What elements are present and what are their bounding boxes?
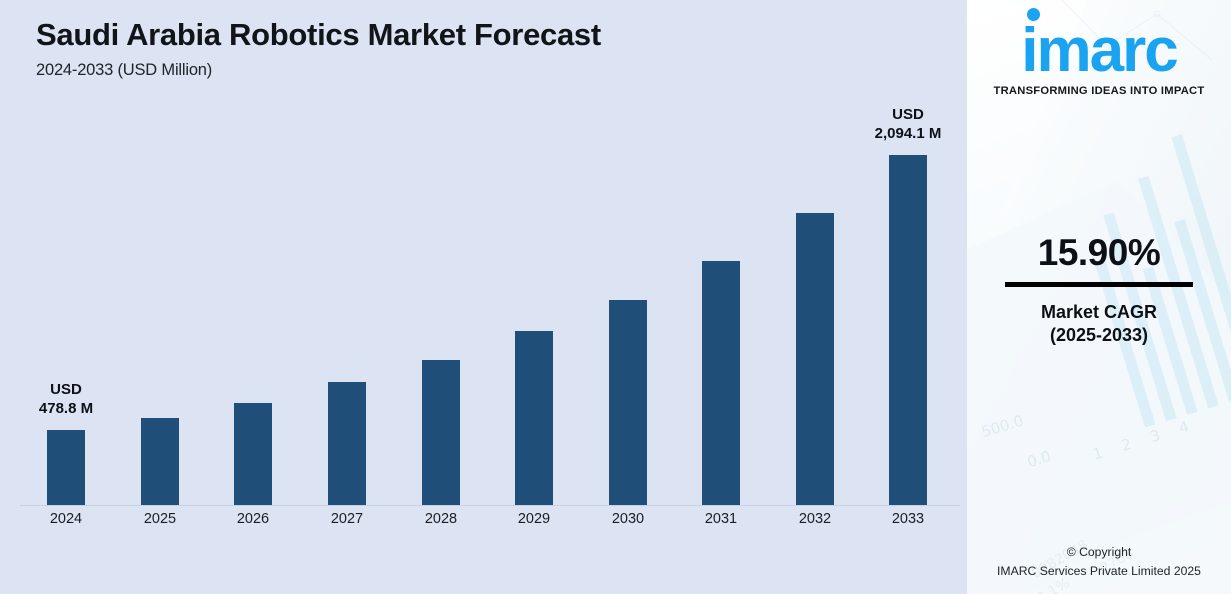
svg-text:1: 1 [1091, 444, 1105, 464]
cagr-label: Market CAGR [967, 299, 1231, 325]
copyright-footer: © Copyright IMARC Services Private Limit… [967, 543, 1231, 580]
cagr-period: (2025-2033) [967, 325, 1231, 346]
imarc-wordmark: imarc [1021, 14, 1176, 82]
callout-first-line1: USD [6, 381, 126, 400]
xtick-2029: 2029 [489, 511, 579, 527]
x-axis-line [20, 505, 960, 506]
callout-last-line1: USD [848, 106, 968, 125]
imarc-tagline: TRANSFORMING IDEAS INTO IMPACT [967, 85, 1231, 97]
xtick-2030: 2030 [583, 511, 673, 527]
xtick-2027: 2027 [302, 511, 392, 527]
callout-first-line2: 478.8 M [6, 400, 126, 419]
copyright-line-2: IMARC Services Private Limited 2025 [967, 562, 1231, 580]
bar-2026[interactable] [234, 403, 272, 505]
imarc-logo-text: imarc [1021, 16, 1176, 85]
xtick-2031: 2031 [676, 511, 766, 527]
bar-2029[interactable] [515, 331, 553, 505]
chart-panel: Saudi Arabia Robotics Market Forecast 20… [0, 0, 967, 594]
bar-2027[interactable] [328, 382, 366, 505]
brand-panel: 12 34 0.0 500.0 0982048 0.1% 2768 imarc … [967, 0, 1231, 594]
cagr-value: 15.90% [967, 232, 1231, 274]
svg-text:500.0: 500.0 [979, 411, 1025, 441]
svg-text:0.0: 0.0 [1025, 447, 1053, 471]
bar-2033[interactable] [889, 155, 927, 505]
xtick-2026: 2026 [208, 511, 298, 527]
callout-last-value: USD 2,094.1 M [848, 106, 968, 144]
bar-2030[interactable] [609, 300, 647, 505]
callout-last-line2: 2,094.1 M [848, 125, 968, 144]
xtick-2032: 2032 [770, 511, 860, 527]
cagr-callout: 15.90% Market CAGR (2025-2033) [967, 232, 1231, 346]
bar-2028[interactable] [422, 360, 460, 505]
xtick-2033: 2033 [863, 511, 953, 527]
xtick-2024: 2024 [21, 511, 111, 527]
bar-chart-plot: USD 478.8 M USD 2,094.1 M 2024 2025 2026 [0, 0, 967, 594]
infographic-root: Saudi Arabia Robotics Market Forecast 20… [0, 0, 1231, 594]
xtick-2025: 2025 [115, 511, 205, 527]
imarc-logo[interactable]: imarc TRANSFORMING IDEAS INTO IMPACT [967, 14, 1231, 97]
callout-first-value: USD 478.8 M [6, 381, 126, 419]
bar-2024[interactable] [47, 430, 85, 505]
svg-text:2: 2 [1119, 435, 1133, 455]
svg-text:3: 3 [1148, 426, 1162, 446]
bar-2025[interactable] [141, 418, 179, 505]
cagr-divider [1005, 282, 1193, 287]
xtick-2028: 2028 [396, 511, 486, 527]
svg-text:4: 4 [1177, 417, 1191, 437]
copyright-line-1: © Copyright [967, 543, 1231, 561]
bar-2032[interactable] [796, 213, 834, 505]
bar-2031[interactable] [702, 261, 740, 505]
